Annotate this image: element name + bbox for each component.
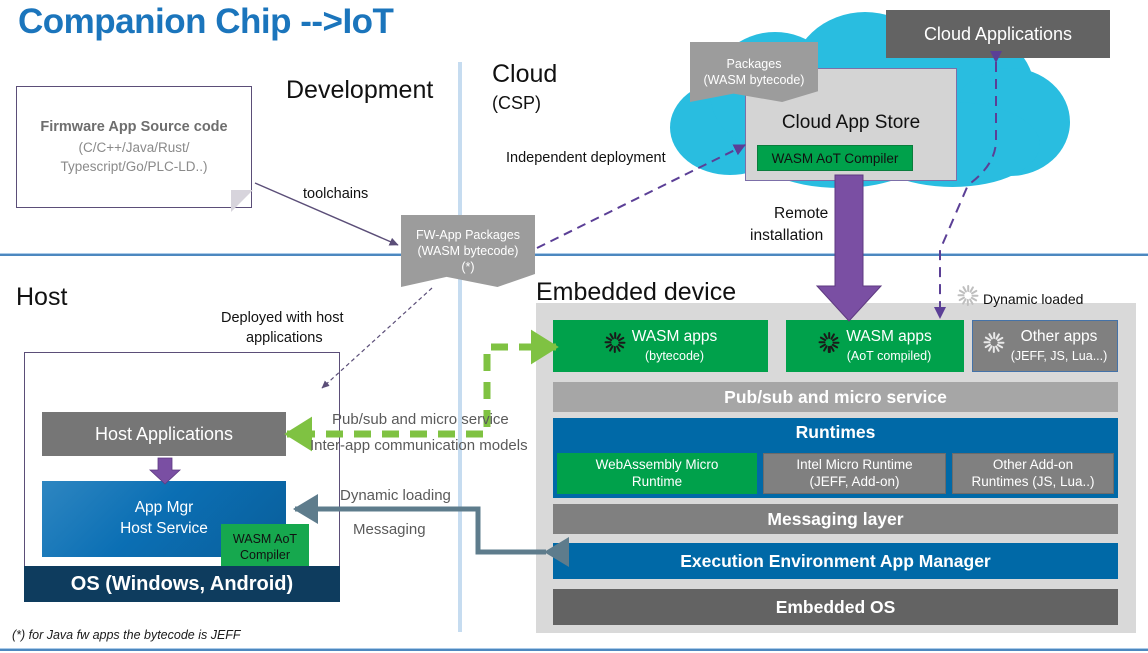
cloud-applications-box: Cloud Applications — [886, 10, 1110, 58]
embedded-app-wasm-bytecode[interactable]: WASM apps (bytecode) — [553, 320, 768, 372]
dynamic-loaded-icon — [818, 335, 840, 357]
cloud-packages-line-1: Packages — [727, 56, 782, 72]
host-aot-line-2: Compiler — [240, 548, 290, 562]
runtime-other-addon[interactable]: Other Add-on Runtimes (JS, Lua..) — [952, 453, 1114, 494]
label-dynamic-loading: Dynamic loading — [340, 487, 451, 504]
section-subheading-csp: (CSP) — [492, 93, 541, 114]
runtime-line-1: WebAssembly Micro — [596, 457, 719, 472]
source-heading: Firmware App Source code — [40, 118, 227, 138]
cloud-app-store-title: Cloud App Store — [745, 112, 957, 134]
label-deployed-with-host-line-1: Deployed with host — [221, 310, 344, 326]
host-aot-line-1: WASM AoT — [233, 532, 297, 546]
diagram-canvas: Companion Chip -->IoT Development Cloud … — [0, 0, 1148, 653]
app-subtitle: (JEFF, JS, Lua...) — [1011, 349, 1108, 363]
legend-dynamic-loaded: Dynamic loaded — [957, 288, 1083, 310]
source-line-1: (C/C++/Java/Rust/ — [78, 138, 189, 157]
runtime-line-2: (JEFF, Add-on) — [809, 474, 899, 489]
embedded-runtimes-title: Runtimes — [553, 422, 1118, 443]
app-title: WASM apps — [846, 328, 932, 345]
cloud-aot-compiler-box: WASM AoT Compiler — [757, 145, 913, 171]
source-line-2: Typescript/Go/PLC-LD..) — [60, 157, 207, 176]
app-subtitle: (bytecode) — [645, 349, 704, 363]
label-toolchains: toolchains — [303, 186, 368, 202]
label-pubsub-micro-service: Pub/sub and micro service — [332, 411, 509, 428]
runtime-line-1: Intel Micro Runtime — [796, 457, 912, 472]
section-heading-cloud: Cloud — [492, 60, 557, 89]
runtime-line-1: Other Add-on — [993, 457, 1073, 472]
label-remote-installation-line-1: Remote — [774, 205, 828, 223]
firmware-source-code-box: Firmware App Source code (C/C++/Java/Rus… — [16, 86, 252, 208]
host-aot-compiler-box: WASM AoT Compiler — [221, 524, 309, 570]
fw-app-packages-flag: FW-App Packages (WASM bytecode) (*) — [401, 215, 535, 287]
divider-horizontal-bottom — [0, 648, 1148, 651]
app-mgr-line-2: Host Service — [120, 520, 208, 537]
legend-dynamic-loaded-label: Dynamic loaded — [983, 291, 1083, 307]
label-messaging: Messaging — [353, 521, 426, 538]
embedded-messaging-layer: Messaging layer — [553, 504, 1118, 534]
app-mgr-line-1: App Mgr — [135, 499, 194, 516]
runtime-line-2: Runtime — [632, 474, 682, 489]
embedded-app-other[interactable]: Other apps (JEFF, JS, Lua...) — [972, 320, 1118, 372]
fw-packages-line-3: (*) — [461, 259, 474, 275]
app-title: Other apps — [1021, 328, 1098, 345]
dynamic-loaded-icon — [604, 335, 626, 357]
divider-vertical — [458, 62, 462, 632]
host-os-bar: OS (Windows, Android) — [24, 566, 340, 602]
host-applications-box: Host Applications — [42, 412, 286, 456]
cloud-packages-flag: Packages (WASM bytecode) — [690, 42, 818, 102]
runtime-line-2: Runtimes (JS, Lua..) — [971, 474, 1094, 489]
app-title: WASM apps — [632, 328, 718, 345]
arrow-remote-installation — [817, 175, 881, 321]
section-heading-development: Development — [286, 76, 433, 105]
app-subtitle: (AoT compiled) — [847, 349, 932, 363]
dynamic-loaded-icon — [983, 335, 1005, 357]
page-title: Companion Chip -->IoT — [18, 2, 393, 42]
section-heading-host: Host — [16, 283, 67, 312]
label-inter-app-communication: Inter-app communication models — [310, 437, 528, 454]
label-independent-deployment: Independent deployment — [506, 150, 666, 166]
runtime-intel-micro[interactable]: Intel Micro Runtime (JEFF, Add-on) — [763, 453, 946, 494]
fw-packages-line-2: (WASM bytecode) — [418, 243, 519, 259]
embedded-app-manager: Execution Environment App Manager — [553, 543, 1118, 579]
label-deployed-with-host-line-2: applications — [246, 330, 323, 346]
embedded-pubsub-layer: Pub/sub and micro service — [553, 382, 1118, 412]
label-remote-installation-line-2: installation — [750, 227, 823, 245]
footnote: (*) for Java fw apps the bytecode is JEF… — [12, 628, 241, 642]
divider-horizontal-top — [0, 253, 1148, 256]
embedded-os: Embedded OS — [553, 589, 1118, 625]
fw-packages-line-1: FW-App Packages — [416, 227, 520, 243]
dynamic-loaded-icon — [957, 288, 979, 310]
source-box-fold-corner — [231, 190, 253, 212]
cloud-packages-line-2: (WASM bytecode) — [704, 72, 805, 88]
runtime-webassembly-micro[interactable]: WebAssembly Micro Runtime — [557, 453, 757, 494]
embedded-app-wasm-aot[interactable]: WASM apps (AoT compiled) — [786, 320, 964, 372]
